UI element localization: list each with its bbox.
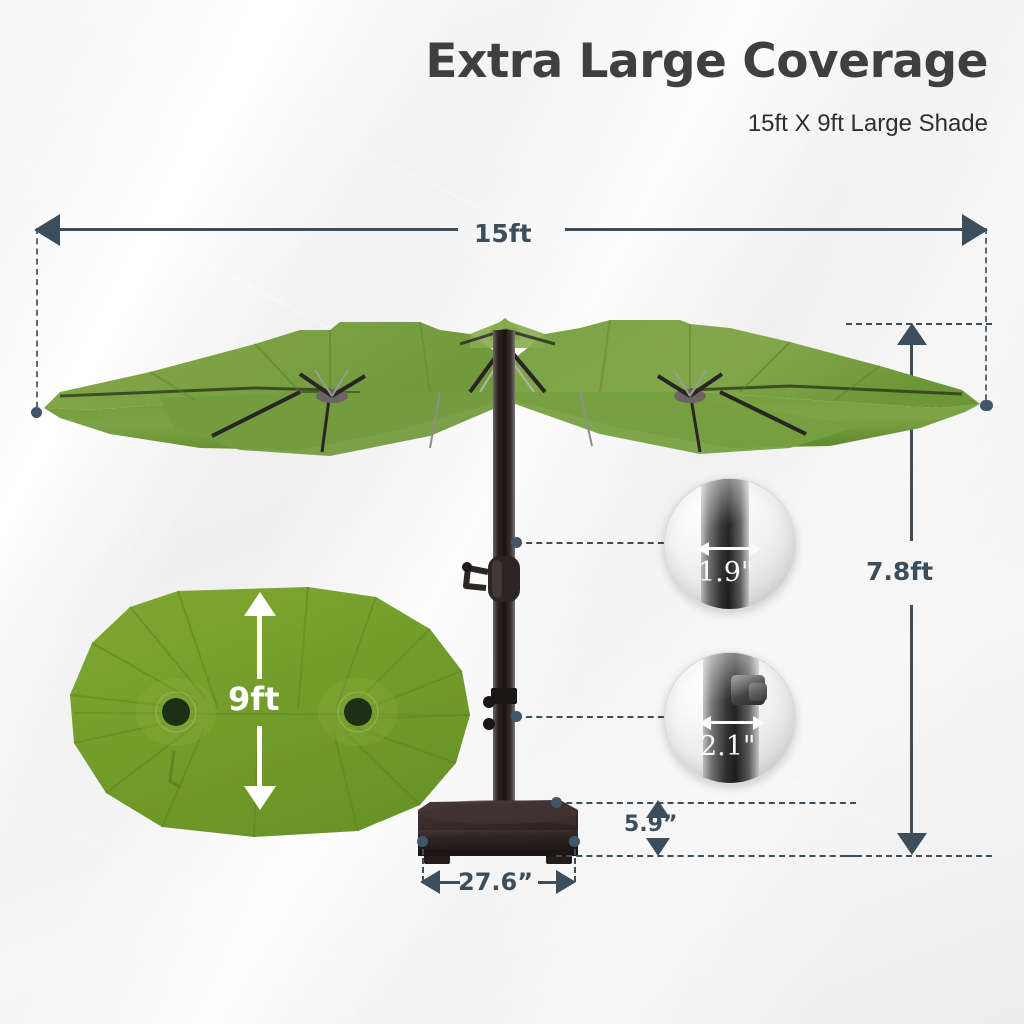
base-width-anchor-dot-right (569, 836, 580, 847)
callout-connector-upper (516, 542, 674, 544)
base-height-extension-top (556, 802, 856, 804)
canopy-top-view (58, 575, 488, 875)
callout-glass-gloss-lower (665, 653, 795, 783)
base-width-label: 27.6” (458, 868, 533, 896)
base-width-arrow-right (556, 870, 576, 894)
base-width-anchor-dot-left (417, 836, 428, 847)
base-width-arrow-left (420, 870, 440, 894)
callout-connector-lower (516, 716, 674, 718)
base-height-anchor-dot (551, 797, 562, 808)
canopy-depth-arrow-down (244, 786, 276, 810)
callout-glass-gloss-upper (665, 479, 795, 609)
callout-circle-lower-pole: 2.1" (664, 652, 796, 784)
callout-connector-dot-pole-lower (511, 711, 522, 722)
canopy-depth-arrow-up (244, 592, 276, 616)
canopy-depth-line-lower (257, 726, 262, 786)
infographic-canvas: Extra Large Coverage 15ft X 9ft Large Sh… (0, 0, 1024, 1024)
base-width-line-left (438, 881, 460, 884)
canopy-depth-line-upper (257, 614, 262, 679)
callout-connector-dot-pole-upper (511, 537, 522, 548)
base-height-extension-bottom (556, 855, 856, 857)
canopy-depth-label: 9ft (228, 680, 279, 718)
base-height-arrow-down (646, 838, 670, 856)
callout-circle-upper-pole: 1.9" (664, 478, 796, 610)
base-height-label: 5.9” (624, 812, 677, 837)
